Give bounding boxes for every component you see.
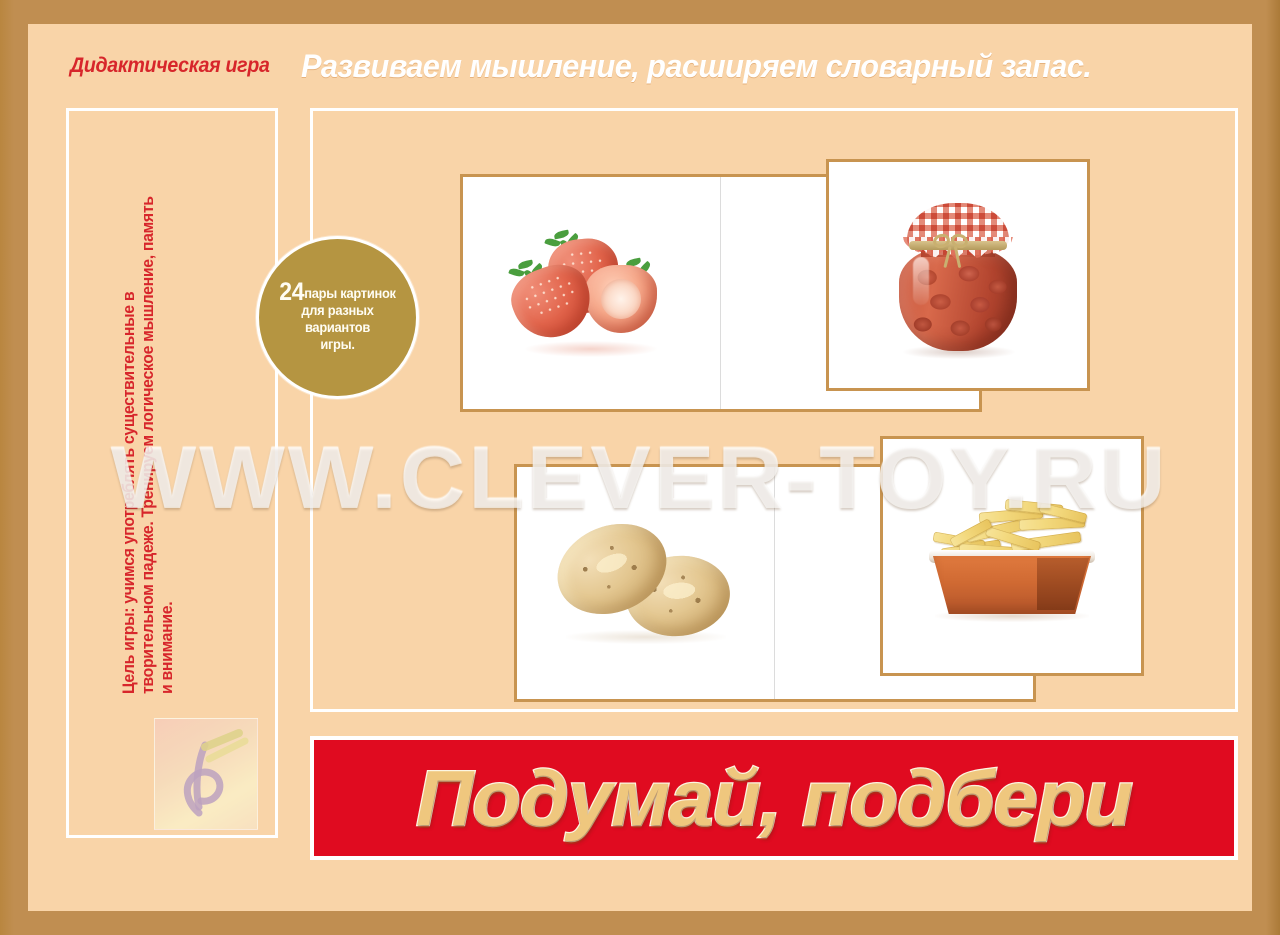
banner-title: Подумай, подбери (416, 759, 1132, 837)
jar-highlight (913, 257, 929, 305)
badge-text: 24пары картинок для разных вариантов игр… (265, 282, 409, 353)
goal-text: Цель игры: учимся употреблять существите… (120, 195, 177, 694)
page-title: Развиваем мышление, расширяем словарный … (301, 48, 1091, 85)
card-french-fries[interactable] (880, 436, 1144, 676)
fries-tray-side (1037, 558, 1089, 610)
poster-root: Дидактическая игра Развиваем мышление, р… (0, 0, 1280, 935)
brand-logo-icon (155, 719, 258, 830)
pairs-count-badge: 24пары картинок для разных вариантов игр… (256, 236, 419, 399)
strawberry-shadow (525, 341, 657, 357)
poster-header: Дидактическая игра Развиваем мышление, р… (28, 40, 1252, 92)
goal-text-block: Цель игры: учимся употреблять существите… (120, 0, 200, 174)
french-fries-illustration (919, 488, 1105, 624)
potatoes-illustration (556, 520, 736, 646)
badge-line2: для разных вариантов (301, 302, 373, 335)
card-half-strawberries[interactable] (463, 177, 721, 409)
badge-line1: пары картинок (304, 285, 395, 301)
brand-logo (154, 718, 258, 830)
card-jam-jar[interactable] (826, 159, 1090, 391)
potato-shadow (566, 630, 726, 644)
badge-line3: игры. (320, 336, 354, 352)
card-half-potatoes[interactable] (517, 467, 775, 699)
strawberry-halved (585, 265, 657, 333)
jar-twine-bow (935, 231, 971, 261)
poster-board: Дидактическая игра Развиваем мышление, р… (28, 24, 1252, 911)
jam-jar-illustration (891, 191, 1025, 359)
strawberries-illustration (507, 233, 677, 353)
title-banner: Подумай, подбери (310, 736, 1238, 860)
